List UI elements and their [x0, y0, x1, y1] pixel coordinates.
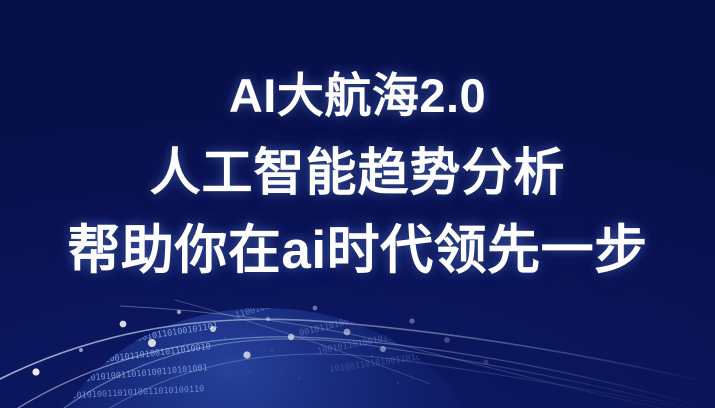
headline-line-1: AI大航海2.0 [0, 72, 715, 119]
globe-svg: 0100110101001101001101010011010100110101… [0, 288, 715, 408]
poster-canvas: 0100110101001101001101010011010100110101… [0, 0, 715, 408]
headline-line-2: 人工智能趋势分析 [0, 147, 715, 198]
headline-block: AI大航海2.0 人工智能趋势分析 帮助你在ai时代领先一步 [0, 72, 715, 277]
binary-row: 0010110100101101001011010010110100101101 [298, 288, 499, 339]
binary-globe-graphic: 0100110101001101001101010011010100110101… [0, 288, 715, 408]
sphere-body: 0100110101001101001101010011010100110101… [0, 288, 533, 408]
headline-line-3: 帮助你在ai时代领先一步 [0, 224, 715, 277]
